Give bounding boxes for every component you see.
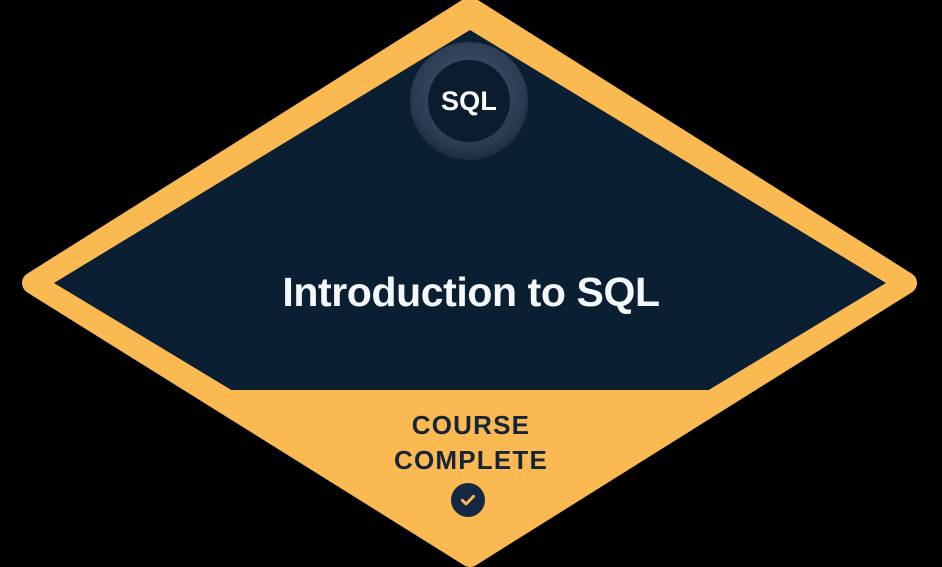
status-line-2: COMPLETE xyxy=(0,443,942,478)
check-mark-icon xyxy=(458,490,478,510)
check-circle-icon xyxy=(451,483,485,517)
course-title: Introduction to SQL xyxy=(0,270,942,316)
emblem-label: SQL xyxy=(441,88,497,115)
badge-stage: SQL Introduction to SQL COURSE COMPLETE xyxy=(0,0,942,567)
completion-status: COURSE COMPLETE xyxy=(0,408,942,478)
status-line-1: COURSE xyxy=(0,408,942,443)
sql-emblem-icon: SQL xyxy=(410,42,528,160)
